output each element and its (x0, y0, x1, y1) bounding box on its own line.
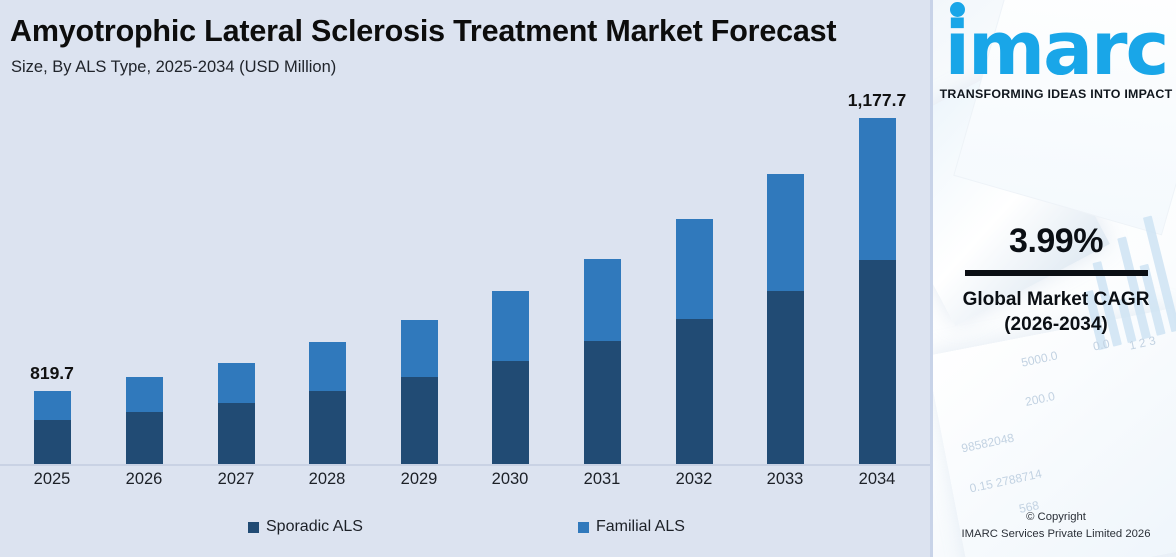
cagr-label: Global Market CAGR (2026-2034) (933, 287, 1176, 337)
bar-segment-sporadic-2034 (859, 260, 896, 465)
bar-segment-sporadic-2029 (401, 377, 438, 465)
bar-2028 (309, 342, 346, 465)
bar-2033 (767, 174, 804, 465)
bar-chart-plot-area: 819.71,177.7 (0, 0, 930, 465)
brand-panel: 0.15 2788714 568 98582048 5000.0 0.0 1 2… (930, 0, 1176, 557)
copyright-line-2: IMARC Services Private Limited 2026 (933, 526, 1176, 543)
bar-2025: 819.7 (34, 391, 71, 465)
bar-segment-familial-2034 (859, 118, 896, 260)
bar-value-label-2034: 1,177.7 (848, 90, 906, 111)
bar-segment-familial-2028 (309, 342, 346, 391)
x-axis-tick-2028: 2028 (309, 470, 346, 489)
bar-segment-sporadic-2025 (34, 420, 71, 465)
bar-segment-sporadic-2028 (309, 391, 346, 465)
cagr-label-line2: (2026-2034) (933, 312, 1176, 337)
bar-segment-familial-2033 (767, 174, 804, 291)
bar-2031 (584, 259, 621, 465)
cagr-label-line1: Global Market CAGR (933, 287, 1176, 312)
chart-panel: Amyotrophic Lateral Sclerosis Treatment … (0, 0, 930, 557)
imarc-wordmark: imarc (945, 18, 1168, 82)
legend-item-familial-als[interactable]: Familial ALS (578, 518, 685, 536)
bar-segment-familial-2025 (34, 391, 71, 420)
legend-swatch-icon (578, 522, 589, 533)
logo-dot-icon (950, 2, 965, 17)
bar-segment-familial-2032 (676, 219, 713, 319)
bar-2034: 1,177.7 (859, 118, 896, 465)
bar-segment-sporadic-2030 (492, 361, 529, 465)
bar-2027 (218, 363, 255, 465)
x-axis-tick-2030: 2030 (492, 470, 529, 489)
x-axis-tick-2029: 2029 (401, 470, 438, 489)
x-axis-tick-2031: 2031 (584, 470, 621, 489)
bar-2026 (126, 377, 163, 465)
x-axis-tick-2025: 2025 (34, 470, 71, 489)
bar-value-label-2025: 819.7 (30, 363, 74, 384)
bar-segment-familial-2029 (401, 320, 438, 377)
legend-item-sporadic-als[interactable]: Sporadic ALS (248, 518, 363, 536)
cagr-value: 3.99% (933, 222, 1176, 261)
x-axis-tick-2032: 2032 (676, 470, 713, 489)
bar-segment-familial-2030 (492, 291, 529, 361)
cagr-divider (965, 270, 1148, 276)
bar-segment-familial-2026 (126, 377, 163, 412)
bar-segment-sporadic-2031 (584, 341, 621, 465)
bar-segment-sporadic-2026 (126, 412, 163, 465)
bar-segment-familial-2027 (218, 363, 255, 403)
legend-label: Familial ALS (596, 518, 685, 536)
bar-segment-familial-2031 (584, 259, 621, 341)
chart-legend: Sporadic ALSFamilial ALS (0, 518, 930, 542)
copyright-notice: © Copyright IMARC Services Private Limit… (933, 509, 1176, 543)
chart-baseline (0, 464, 930, 466)
x-axis-labels: 2025202620272028202920302031203220332034 (0, 470, 930, 496)
bar-segment-sporadic-2032 (676, 319, 713, 465)
x-axis-tick-2026: 2026 (126, 470, 163, 489)
bar-segment-sporadic-2027 (218, 403, 255, 465)
x-axis-tick-2034: 2034 (859, 470, 896, 489)
x-axis-tick-2027: 2027 (218, 470, 255, 489)
infographic-root: Amyotrophic Lateral Sclerosis Treatment … (0, 0, 1176, 557)
x-axis-tick-2033: 2033 (767, 470, 804, 489)
legend-label: Sporadic ALS (266, 518, 363, 536)
imarc-logo: imarc TRANSFORMING IDEAS INTO IMPACT (933, 18, 1176, 101)
bar-2030 (492, 291, 529, 465)
copyright-line-1: © Copyright (933, 509, 1176, 526)
bar-segment-sporadic-2033 (767, 291, 804, 465)
cagr-callout: 3.99% Global Market CAGR (2026-2034) (933, 222, 1176, 337)
bar-2029 (401, 320, 438, 465)
bar-2032 (676, 219, 713, 465)
legend-swatch-icon (248, 522, 259, 533)
